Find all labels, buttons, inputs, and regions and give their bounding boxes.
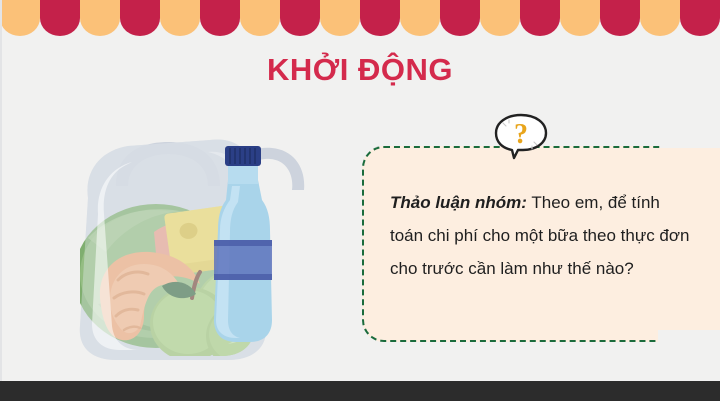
slide-canvas: KHỞI ĐỘNG	[0, 0, 720, 401]
awning-scallop	[560, 0, 600, 36]
awning-scallop	[440, 0, 480, 36]
awning-scallop	[240, 0, 280, 36]
awning-scallop	[120, 0, 160, 36]
awning-scallop	[280, 0, 320, 36]
awning-scallop	[200, 0, 240, 36]
discussion-prompt-lead: Thảo luận nhóm:	[390, 193, 527, 212]
scalloped-awning	[0, 0, 720, 36]
bottom-bar	[0, 381, 720, 401]
question-speech-bubble: ?	[492, 112, 550, 160]
awning-scallop	[520, 0, 560, 36]
left-edge-rule	[0, 0, 2, 381]
awning-scallop	[640, 0, 680, 36]
awning-scallop	[360, 0, 400, 36]
awning-scallop	[0, 0, 40, 36]
awning-scallop	[160, 0, 200, 36]
awning-scallop	[600, 0, 640, 36]
grocery-bag-illustration	[58, 128, 308, 363]
discussion-prompt: Thảo luận nhóm: Theo em, để tính toán ch…	[390, 186, 690, 285]
awning-scallop	[80, 0, 120, 36]
awning-scallop	[680, 0, 720, 36]
awning-scallop	[480, 0, 520, 36]
awning-scallop	[320, 0, 360, 36]
awning-scallop	[400, 0, 440, 36]
awning-scallop	[40, 0, 80, 36]
discussion-card-bleed-top-mask	[660, 140, 720, 148]
question-mark-glyph: ?	[514, 119, 528, 150]
page-title: KHỞI ĐỘNG	[0, 52, 720, 88]
discussion-card-bleed-bottom-mask	[658, 330, 720, 352]
